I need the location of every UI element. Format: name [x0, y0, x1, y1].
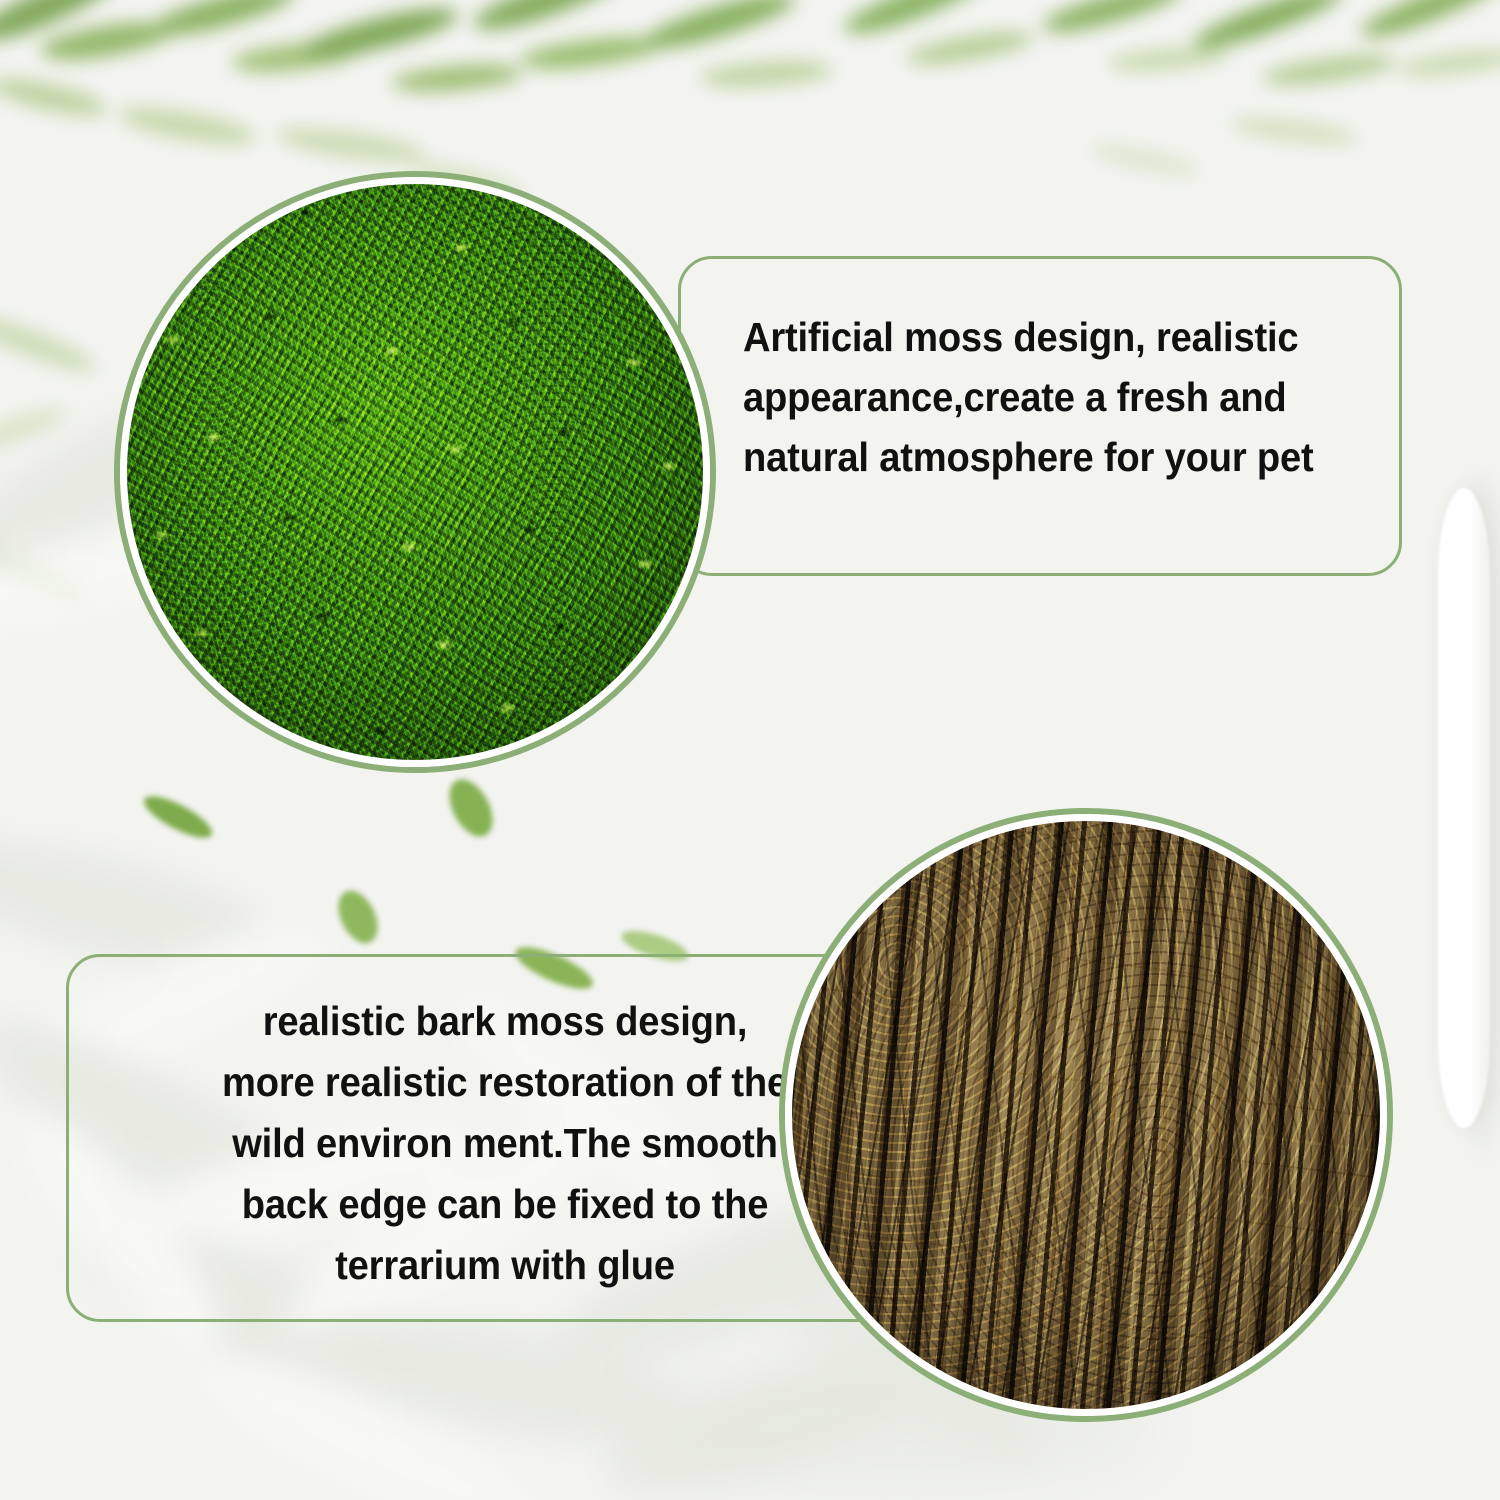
- callout-box-moss: Artificial moss design, realistic appear…: [678, 256, 1402, 576]
- feature-text-bark: realistic bark moss design, more realist…: [124, 991, 887, 1296]
- artificial-moss-texture-photo: [127, 184, 703, 760]
- tree-bark-texture-photo: [792, 821, 1380, 1409]
- infographic-canvas: Artificial moss design, realistic appear…: [0, 0, 1500, 1500]
- white-leaf-highlight: [1438, 488, 1490, 1128]
- bark-vignette: [792, 821, 1380, 1409]
- moss-vignette: [127, 184, 703, 760]
- feature-text-moss: Artificial moss design, realistic appear…: [743, 307, 1348, 487]
